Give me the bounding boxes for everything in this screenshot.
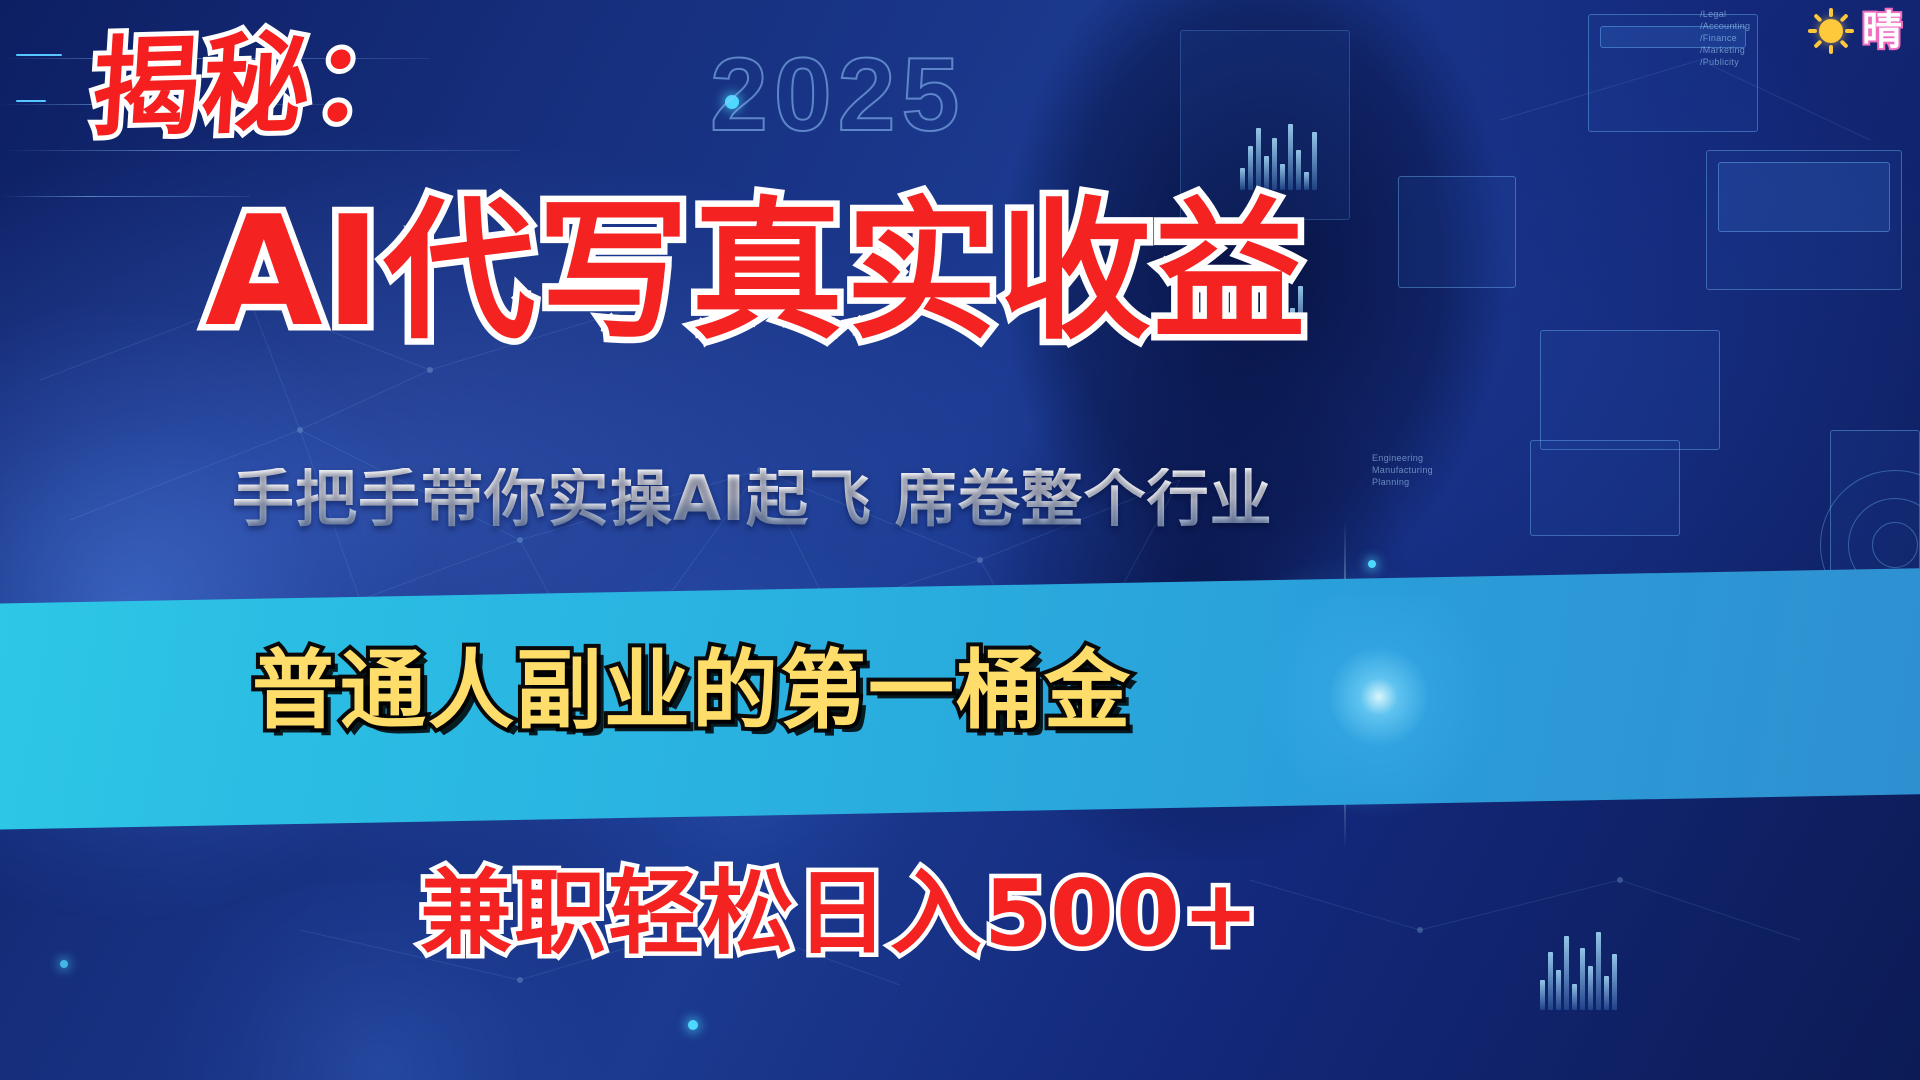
promo-banner: /Legal /Accounting /Finance /Marketing /… [0, 0, 1920, 1080]
year-watermark: 2025 [710, 36, 965, 155]
headline-text: AI代写真实收益 [205, 196, 1765, 348]
kicker-text: 揭秘： [88, 28, 425, 145]
sun-icon [1808, 8, 1854, 54]
subheadline-text: 手把手带你实操AI起飞 席卷整个行业 [232, 468, 1732, 530]
weather-badge[interactable]: 晴 [1808, 8, 1902, 54]
bottom-callout-text: 兼职轻松日入500+ [420, 868, 1720, 960]
weather-label: 晴 [1862, 11, 1902, 51]
